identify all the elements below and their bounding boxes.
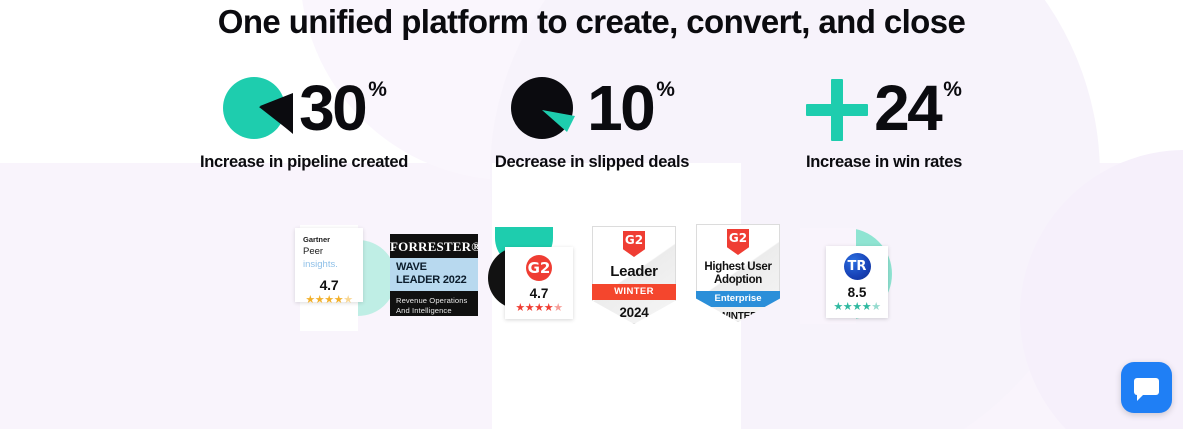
stars-full: ★★★★ <box>305 294 343 306</box>
forrester-category-line1: Revenue Operations <box>396 296 472 306</box>
g2-adoption-title-line1: Highest User <box>697 261 779 274</box>
pie-chart-icon <box>509 72 581 144</box>
forrester-wave-line1: WAVE <box>396 261 472 274</box>
forrester-wave-line2: LEADER 2022 <box>396 274 472 287</box>
stat-percent-sign: % <box>943 78 962 102</box>
forrester-category: Revenue Operations And Intelligence <box>390 291 478 316</box>
stat-pipeline-created: 30 % Increase in pipeline created <box>180 72 428 172</box>
chat-bubble-icon <box>1134 378 1159 395</box>
gartner-score: 4.7 <box>303 277 355 293</box>
g2-logo-icon: G2 <box>526 255 552 281</box>
badge-g2-score[interactable]: G2 4.7 ★★★★★ <box>505 247 573 319</box>
badge-gartner-peer-insights[interactable]: Gartner Peer insights. 4.7 ★★★★★ <box>295 228 363 302</box>
g2-leader-title: Leader <box>593 264 675 280</box>
forrester-wave-band: WAVE LEADER 2022 <box>390 258 478 291</box>
g2-star-rating: ★★★★★ <box>505 302 573 314</box>
g2-logo-icon: G2 <box>623 231 645 257</box>
stat-figure-row: 24 % <box>760 72 1008 144</box>
page-root: One unified platform to create, convert,… <box>0 0 1183 429</box>
stat-value: 24 <box>874 77 940 139</box>
star-half: ★ <box>871 301 880 313</box>
gartner-peer-insights-label: Peer insights. <box>303 245 355 271</box>
stat-label: Increase in pipeline created <box>180 153 428 172</box>
plus-icon <box>806 79 868 141</box>
star-half: ★ <box>343 294 352 306</box>
g2-score-value: 4.7 <box>505 286 573 301</box>
stats-row: 30 % Increase in pipeline created 10 % D… <box>0 72 1183 172</box>
forrester-brand-label: FORRESTER® <box>390 234 478 254</box>
trustradius-score-value: 8.5 <box>826 285 888 300</box>
gartner-peer-text: Peer <box>303 246 323 257</box>
stat-percent-sign: % <box>368 78 387 102</box>
chat-widget-button[interactable] <box>1121 362 1172 413</box>
stat-label: Increase in win rates <box>760 153 1008 172</box>
stat-slipped-deals: 10 % Decrease in slipped deals <box>468 72 716 172</box>
stat-figure-row: 30 % <box>180 72 428 144</box>
pie-chart-icon <box>221 72 293 144</box>
stars-full: ★★★★ <box>515 302 553 314</box>
page-title: One unified platform to create, convert,… <box>0 2 1183 42</box>
forrester-category-line2: And Intelligence <box>396 306 472 316</box>
g2-leader-ribbon: WINTER <box>588 284 680 300</box>
stat-percent-sign: % <box>656 78 675 102</box>
stat-win-rates: 24 % Increase in win rates <box>760 72 1008 172</box>
g2-logo-icon: G2 <box>727 229 749 255</box>
stat-value: 30 <box>299 77 365 139</box>
g2-adoption-title-line2: Adoption <box>697 274 779 287</box>
g2-adoption-title: Highest User Adoption <box>697 261 779 287</box>
gartner-insights-text: insights. <box>303 259 338 270</box>
stat-value: 10 <box>587 77 653 139</box>
stat-label: Decrease in slipped deals <box>468 153 716 172</box>
star-half: ★ <box>553 302 562 314</box>
badge-trustradius-score[interactable]: TR 8.5 ★★★★★ <box>826 246 888 318</box>
badge-forrester-wave[interactable]: FORRESTER® WAVE LEADER 2022 Revenue Oper… <box>390 234 478 316</box>
trustradius-star-rating: ★★★★★ <box>826 301 888 313</box>
gartner-brand-label: Gartner <box>303 235 355 245</box>
gartner-star-rating: ★★★★★ <box>303 294 355 306</box>
stars-full: ★★★★ <box>833 301 871 313</box>
stat-figure-row: 10 % <box>468 72 716 144</box>
trustradius-logo-icon: TR <box>844 253 871 280</box>
